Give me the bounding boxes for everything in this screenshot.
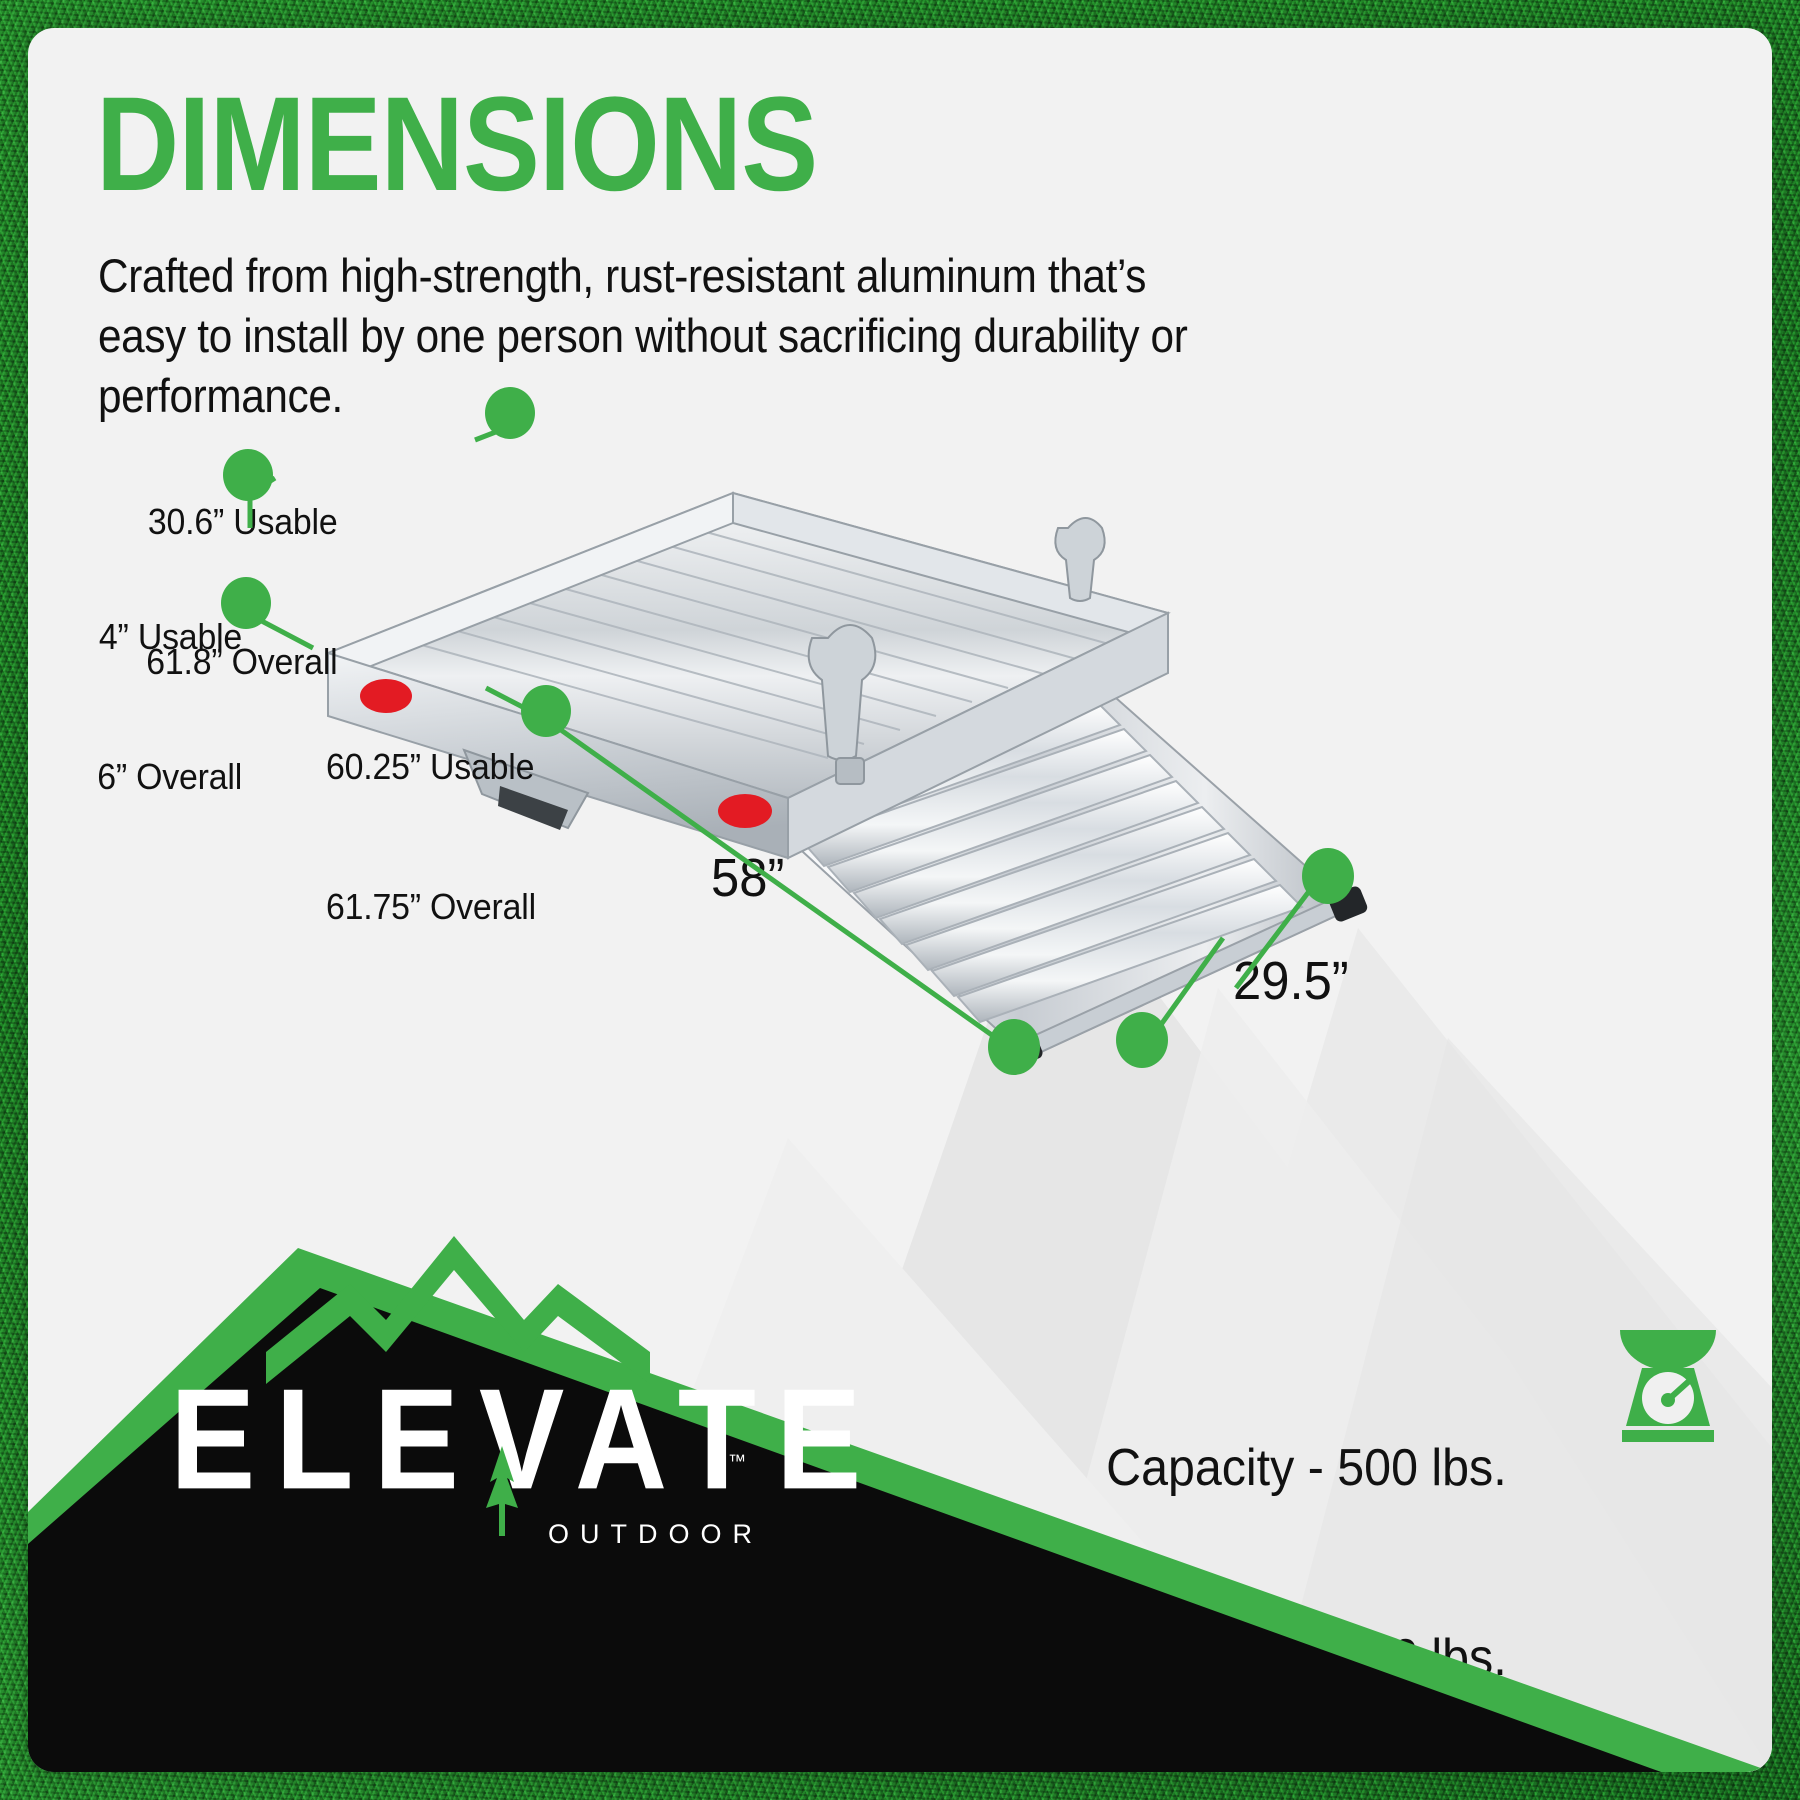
logo-tagline: OUTDOOR xyxy=(548,1519,763,1550)
logo-wordmark: ELEVATE xyxy=(170,1357,881,1522)
callout-dot-side-rail-b xyxy=(221,577,271,629)
content-card: DIMENSIONS Crafted from high-strength, r… xyxy=(28,28,1772,1772)
callout-dot-side-rail-a xyxy=(223,449,273,501)
callout-dot-ramp-length xyxy=(988,1019,1040,1075)
callout-dot-ramp-width-a xyxy=(1116,1012,1168,1068)
callout-dot-platform xyxy=(521,685,571,737)
logo-trademark: ™ xyxy=(728,1451,746,1472)
callout-dot-ramp-width-b xyxy=(1302,848,1354,904)
poster-frame: DIMENSIONS Crafted from high-strength, r… xyxy=(0,0,1800,1800)
callout-dot-width-top xyxy=(485,387,535,439)
pine-tree-icon xyxy=(480,1444,524,1536)
